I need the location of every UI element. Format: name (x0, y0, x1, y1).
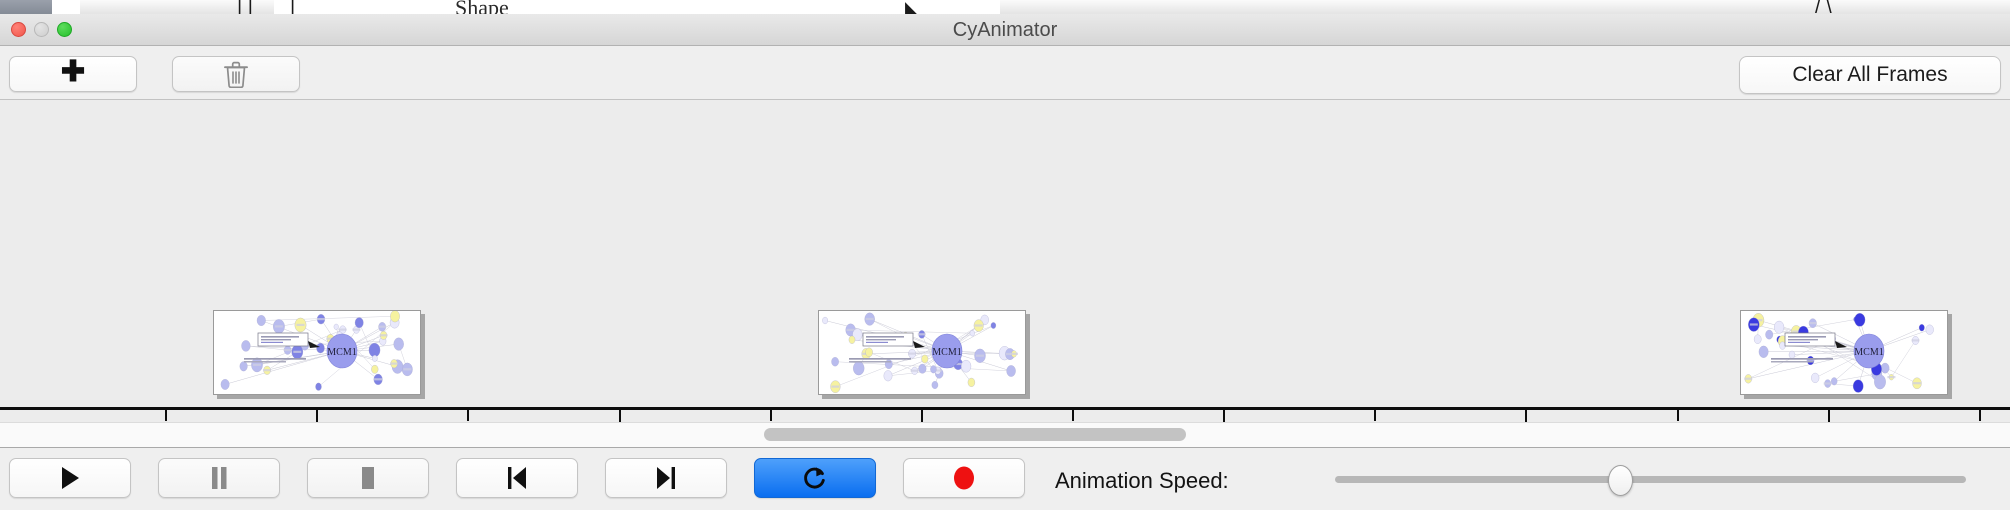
timeline-panel[interactable]: MCM1 MCM1 MCM1 (0, 100, 2010, 447)
record-button[interactable] (903, 458, 1025, 498)
previous-frame-button[interactable] (456, 458, 578, 498)
axis-tick-minor (1677, 410, 1679, 421)
animation-speed-label: Animation Speed: (1055, 468, 1229, 494)
record-icon (951, 465, 977, 491)
axis-tick-minor (1979, 410, 1981, 421)
plus-icon: ✚ (61, 58, 85, 87)
skip-forward-icon (655, 466, 677, 490)
pause-button[interactable] (158, 458, 280, 498)
axis-tick-minor (1072, 410, 1074, 421)
svg-text:MCM1: MCM1 (328, 347, 357, 358)
clear-all-frames-label: Clear All Frames (1792, 63, 1947, 87)
next-frame-button[interactable] (605, 458, 727, 498)
bg-segment (1000, 0, 2010, 14)
bg-bracket-glyph: | (290, 0, 295, 15)
bg-segment (188, 0, 275, 14)
axis-tick-minor (1374, 410, 1376, 421)
stop-button[interactable] (307, 458, 429, 498)
play-icon (59, 466, 81, 490)
background-window-strip: | | | Shape ◣ / \ (0, 0, 2010, 15)
bg-segment (80, 0, 189, 14)
bg-slash-glyph: / \ (1815, 0, 1832, 15)
add-frame-button[interactable]: ✚ (9, 56, 137, 92)
loop-button[interactable] (754, 458, 876, 498)
stop-icon (358, 466, 378, 490)
play-button[interactable] (9, 458, 131, 498)
timeline-axis (0, 407, 2010, 410)
axis-tick-minor (467, 410, 469, 421)
delete-frame-button[interactable] (172, 56, 300, 92)
transport-bar: Animation Speed: (0, 447, 2010, 510)
title-bar: CyAnimator (0, 14, 2010, 46)
bg-pointer-glyph: ◣ (905, 0, 920, 15)
scrollbar-thumb[interactable] (764, 428, 1186, 441)
loop-icon (803, 465, 827, 491)
window-title: CyAnimator (0, 19, 2010, 42)
skip-back-icon (506, 466, 528, 490)
horizontal-scrollbar[interactable] (0, 422, 2010, 447)
clear-all-frames-button[interactable]: Clear All Frames (1739, 56, 2001, 94)
cyanimator-window: CyAnimator ✚ Clear All Frames (0, 14, 2010, 510)
animation-speed-slider[interactable] (1335, 476, 1966, 483)
pause-icon (209, 466, 229, 490)
axis-tick-minor (770, 410, 772, 421)
keyframe-thumbnail[interactable]: MCM1 (1740, 310, 1948, 395)
bg-segment (52, 0, 81, 14)
bg-segment (0, 0, 53, 14)
svg-text:MCM1: MCM1 (1854, 347, 1883, 358)
keyframe-thumbnail[interactable]: MCM1 (213, 310, 421, 395)
animation-speed-thumb[interactable] (1608, 465, 1633, 496)
bg-bracket-glyph: | | (237, 0, 253, 15)
toolbar: ✚ Clear All Frames (0, 46, 2010, 100)
keyframe-thumbnail[interactable]: MCM1 (818, 310, 1026, 395)
bg-window-title: Shape (455, 0, 509, 15)
axis-tick-minor (165, 410, 167, 421)
svg-text:MCM1: MCM1 (932, 347, 961, 358)
trash-icon (224, 61, 248, 88)
